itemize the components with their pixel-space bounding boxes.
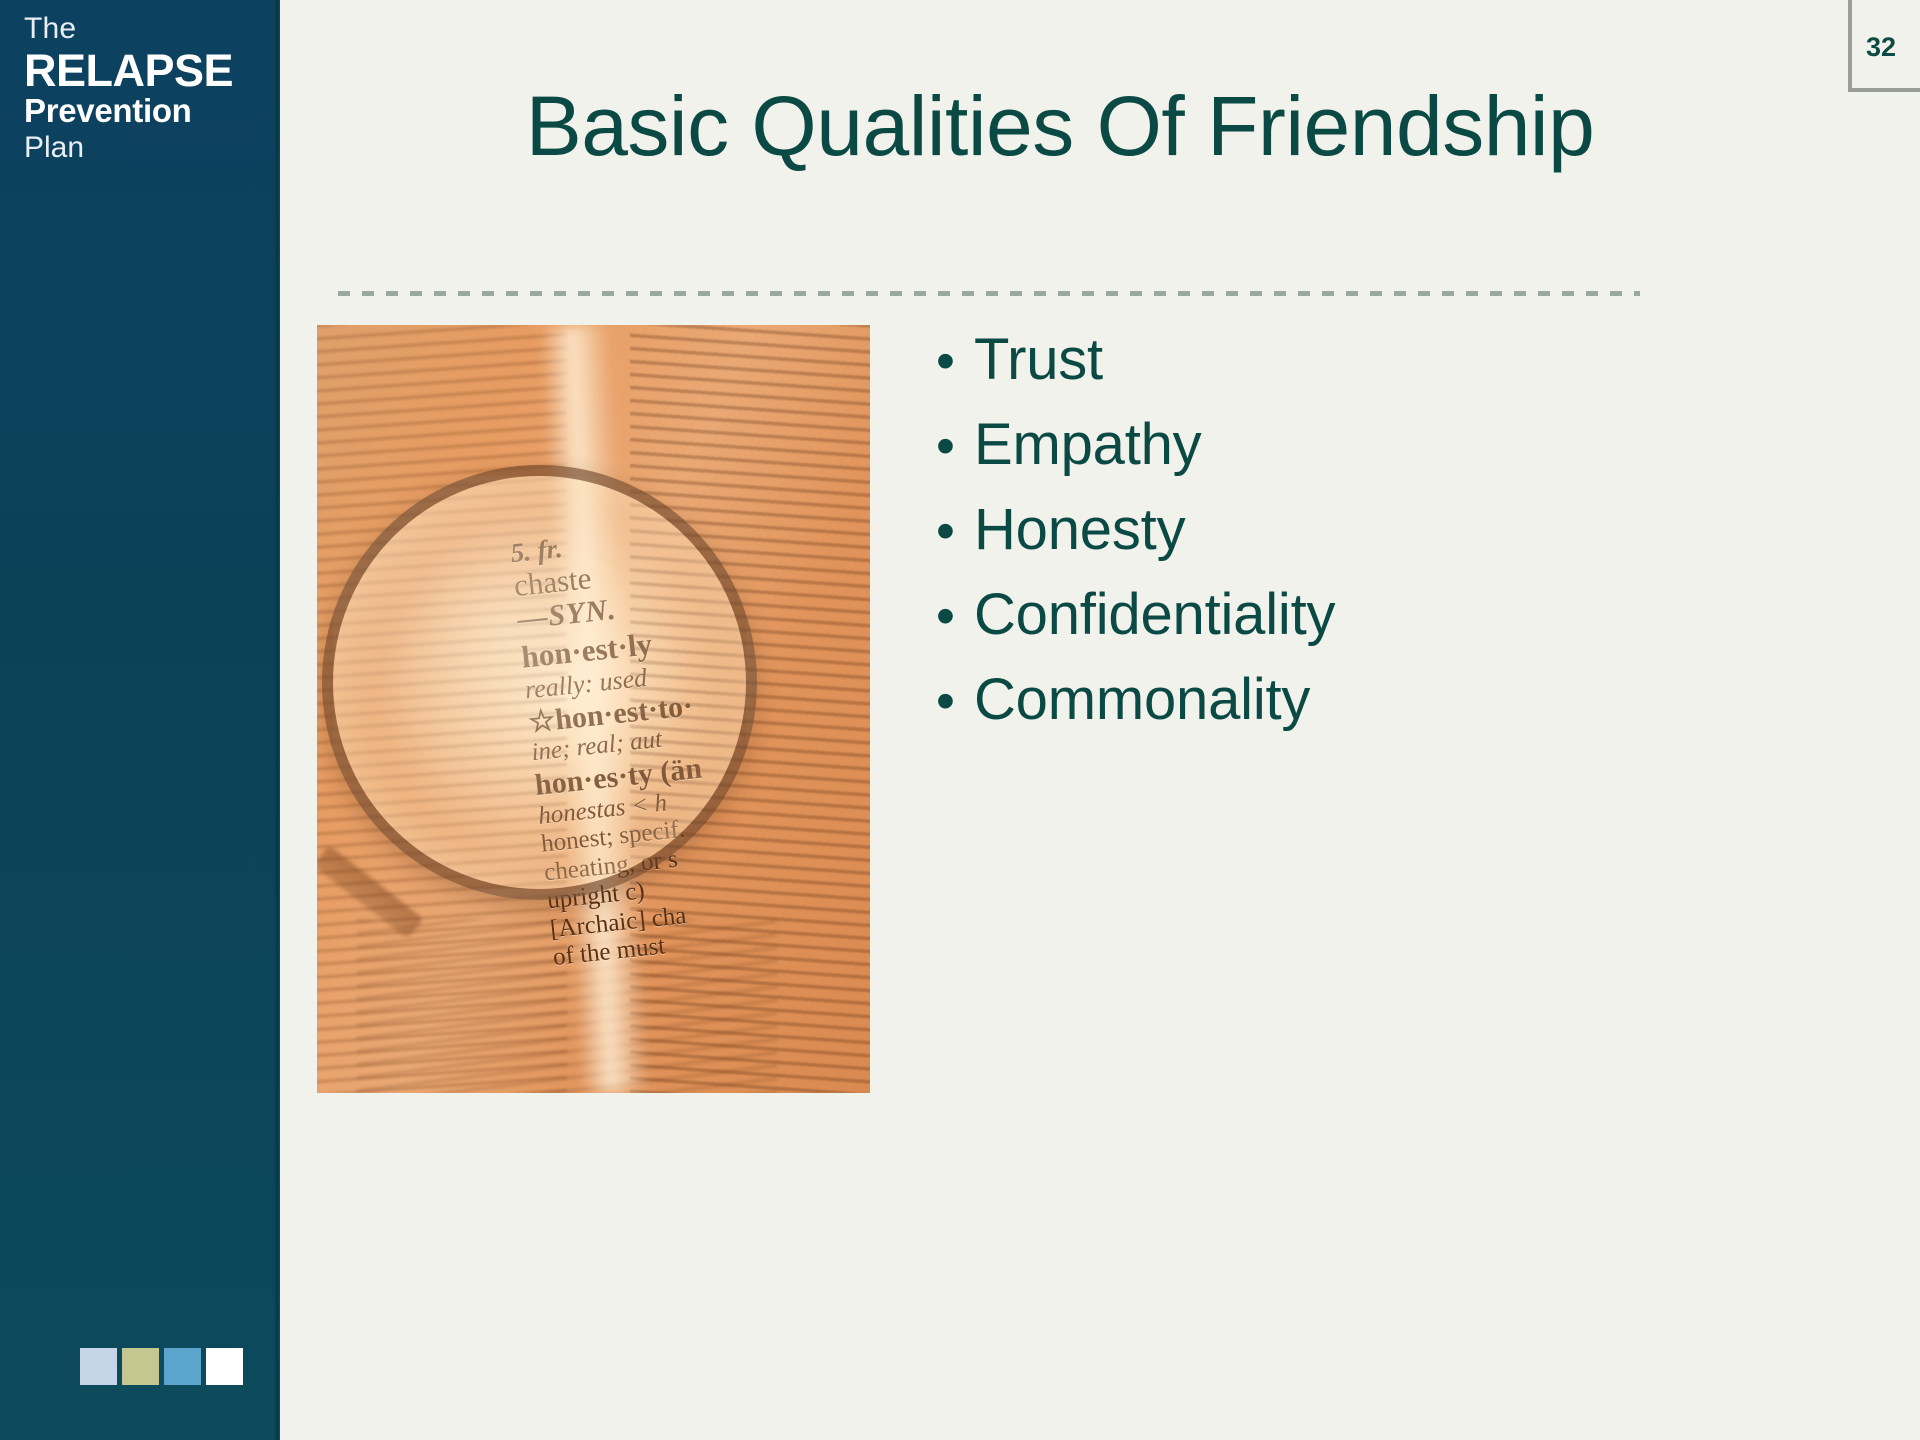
brand-logo: The RELAPSE Prevention Plan [24,14,274,163]
list-item: • Confidentiality [930,585,1750,646]
logo-line-plan: Plan [24,133,274,163]
bullet-label: Confidentiality [974,585,1335,646]
bullet-label: Honesty [974,500,1185,561]
logo-line-the: The [24,14,274,44]
bullet-label: Commonality [974,670,1310,731]
sidebar-edge-shadow [274,0,280,1440]
list-item: • Empathy [930,415,1750,476]
dashed-divider [338,291,1640,296]
list-item: • Trust [930,330,1750,391]
bullet-list: • Trust • Empathy • Honesty • Confidenti… [930,330,1750,754]
magnifying-glass-icon [322,465,757,900]
page-title: Basic Qualities Of Friendship [280,78,1840,175]
swatch-blue [164,1348,201,1385]
bullet-label: Empathy [974,415,1202,476]
swatch-khaki [122,1348,159,1385]
sidebar: The RELAPSE Prevention Plan [0,0,280,1440]
logo-line-relapse: RELAPSE [24,48,274,93]
dictionary-photo: 5. fr. chaste —SYN. hon·est·ly really: u… [317,325,870,1093]
bullet-icon: • [930,674,974,728]
swatch-strip [80,1348,243,1385]
slide: The RELAPSE Prevention Plan 32 Basic Qua… [0,0,1920,1440]
list-item: • Commonality [930,670,1750,731]
page-number: 32 [1866,32,1896,63]
bullet-label: Trust [974,330,1103,391]
swatch-white [206,1348,243,1385]
bullet-icon: • [930,504,974,558]
page-number-box: 32 [1848,0,1920,92]
logo-line-prevention: Prevention [24,94,274,127]
swatch-light-blue [80,1348,117,1385]
bullet-icon: • [930,589,974,643]
bullet-icon: • [930,334,974,388]
list-item: • Honesty [930,500,1750,561]
bullet-icon: • [930,419,974,473]
